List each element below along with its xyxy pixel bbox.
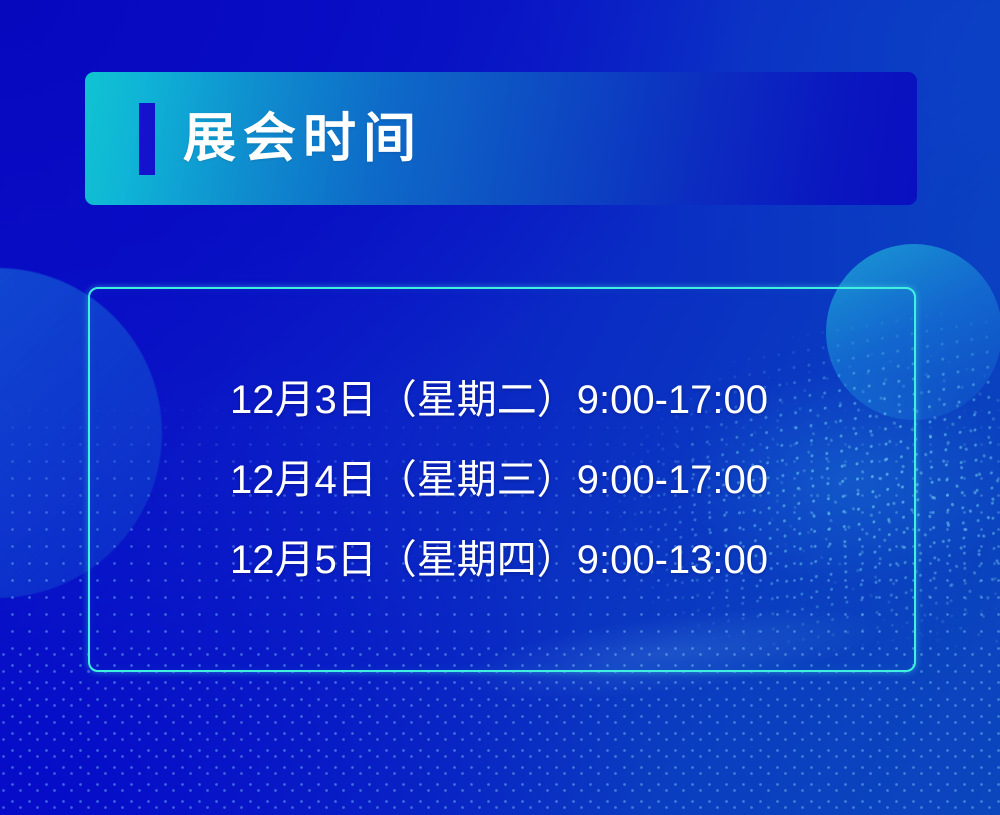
schedule-line: 12月3日（星期二）9:00-17:00 [230,360,914,440]
exhibition-time-poster: 展会时间 12月3日（星期二）9:00-17:00 12月4日（星期三）9:00… [0,0,1000,815]
schedule-box: 12月3日（星期二）9:00-17:00 12月4日（星期三）9:00-17:0… [88,287,916,672]
schedule-line: 12月5日（星期四）9:00-13:00 [230,520,914,600]
title-banner: 展会时间 [85,72,917,205]
page-title: 展会时间 [183,112,423,165]
schedule-line: 12月4日（星期三）9:00-17:00 [230,440,914,520]
title-accent-bar [139,103,155,175]
